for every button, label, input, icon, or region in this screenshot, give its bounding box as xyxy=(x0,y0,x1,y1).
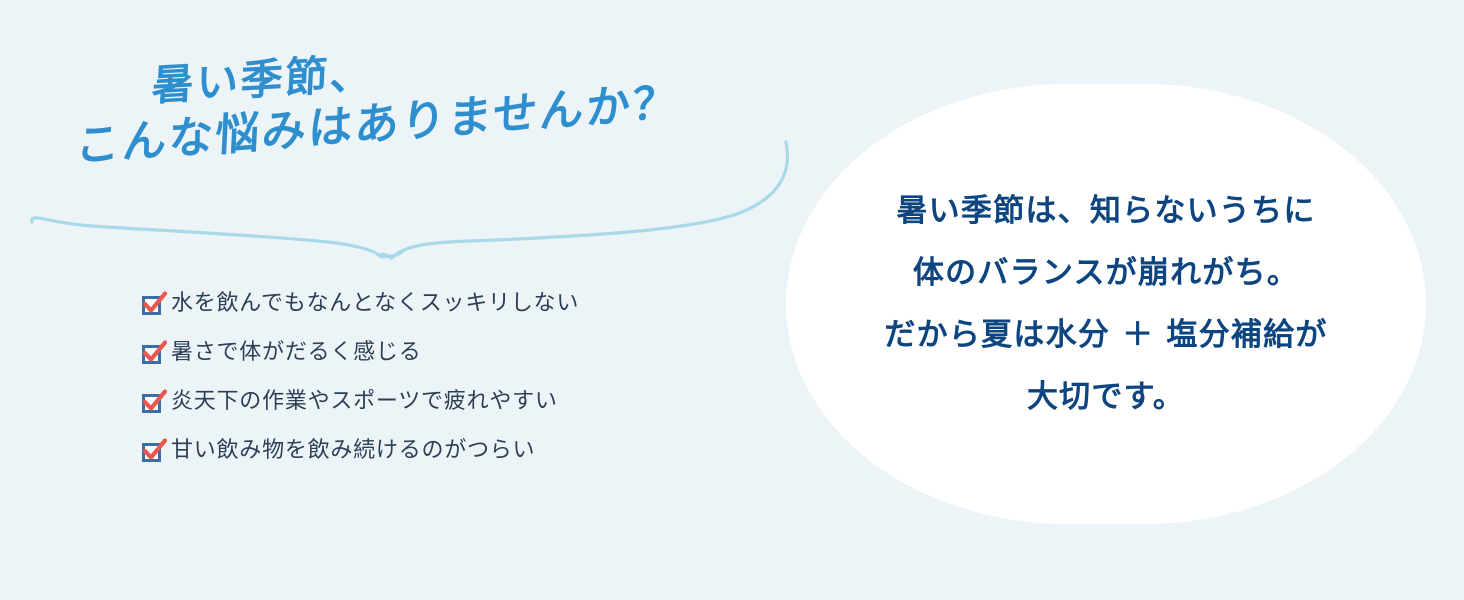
message-line-1: 暑い季節は、知らないうちに xyxy=(884,180,1327,242)
speech-bubble-tail xyxy=(0,130,800,280)
checkbox-checked-icon[interactable] xyxy=(142,296,161,315)
right-panel-blob: 暑い季節は、知らないうちに 体のバランスが崩れがち。 だから夏は水分 ＋ 塩分補… xyxy=(786,84,1426,524)
list-item[interactable]: 水を飲んでもなんとなくスッキリしない xyxy=(142,290,782,339)
checkbox-checked-icon[interactable] xyxy=(142,394,161,413)
list-item-label: 暑さで体がだるく感じる xyxy=(171,339,421,367)
right-panel-message: 暑い季節は、知らないうちに 体のバランスが崩れがち。 だから夏は水分 ＋ 塩分補… xyxy=(884,180,1327,428)
heading-line-1: 暑い季節、 xyxy=(151,39,376,113)
promo-banner: 暑い季節、 こんな悩みはありませんか？ 水を飲んでもなんとなくスッキリしない xyxy=(0,0,1464,600)
message-line-2: 体のバランスが崩れがち。 xyxy=(884,242,1327,304)
checkbox-checked-icon[interactable] xyxy=(142,345,161,364)
list-item-label: 水を飲んでもなんとなくスッキリしない xyxy=(171,290,579,318)
checkbox-checked-icon[interactable] xyxy=(142,443,161,462)
list-item[interactable]: 炎天下の作業やスポーツで疲れやすい xyxy=(142,388,782,437)
problem-checklist: 水を飲んでもなんとなくスッキリしない 暑さで体がだるく感じる xyxy=(142,290,782,486)
list-item-label: 甘い飲み物を飲み続けるのがつらい xyxy=(171,437,535,465)
left-panel: 暑い季節、 こんな悩みはありませんか？ 水を飲んでもなんとなくスッキリしない xyxy=(0,0,800,600)
message-line-4: 大切です。 xyxy=(884,366,1327,428)
list-item[interactable]: 暑さで体がだるく感じる xyxy=(142,339,782,388)
list-item-label: 炎天下の作業やスポーツで疲れやすい xyxy=(171,388,558,416)
message-line-3: だから夏は水分 ＋ 塩分補給が xyxy=(884,304,1327,366)
list-item[interactable]: 甘い飲み物を飲み続けるのがつらい xyxy=(142,437,782,486)
